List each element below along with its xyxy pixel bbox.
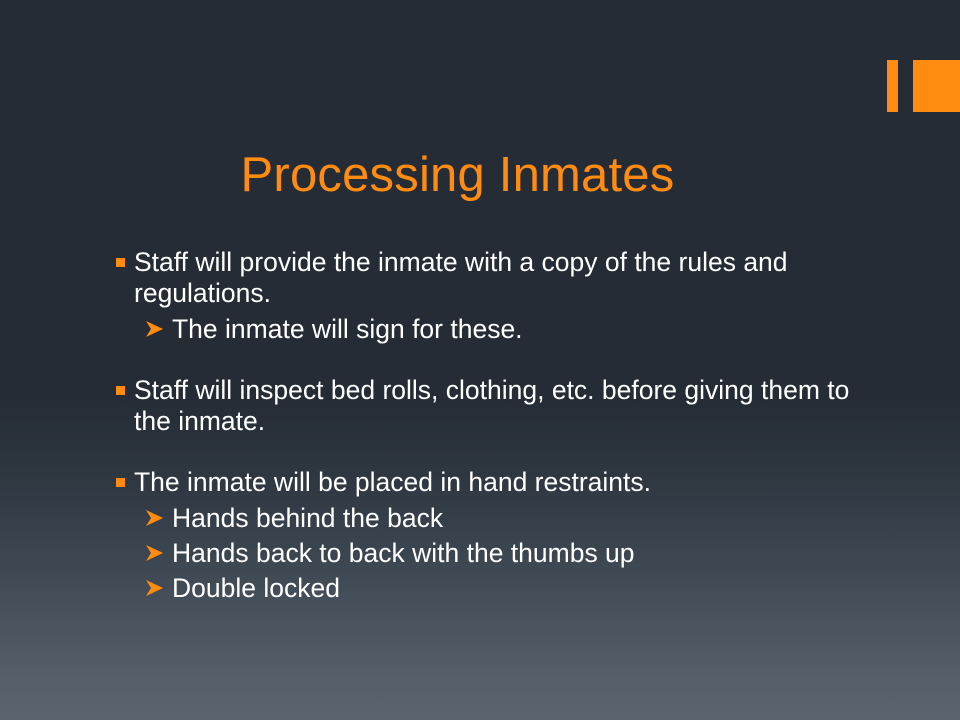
slide-body: Staff will provide the inmate with a cop… <box>112 247 852 604</box>
orange-thin-bar <box>887 60 898 112</box>
slide-title: Processing Inmates <box>60 148 855 203</box>
square-bullet-icon <box>116 258 125 267</box>
bullet-text: Staff will inspect bed rolls, clothing, … <box>134 375 849 436</box>
bullet-text: Staff will provide the inmate with a cop… <box>134 247 788 308</box>
arrow-bullet-icon <box>143 317 167 341</box>
sub-bullet-item: Hands back to back with the thumbs up <box>112 538 852 569</box>
orange-block <box>913 60 960 112</box>
bullet-item: Staff will inspect bed rolls, clothing, … <box>112 375 852 438</box>
sub-bullet-text: The inmate will sign for these. <box>172 314 523 344</box>
square-bullet-icon <box>116 478 125 487</box>
sub-bullet-text: Hands behind the back <box>172 503 443 533</box>
bullet-item: Staff will provide the inmate with a cop… <box>112 247 852 310</box>
arrow-bullet-icon <box>143 541 167 565</box>
square-bullet-icon <box>116 386 125 395</box>
bullet-text: The inmate will be placed in hand restra… <box>134 467 651 497</box>
bullet-item: The inmate will be placed in hand restra… <box>112 467 852 498</box>
sub-bullet-item: Double locked <box>112 573 852 604</box>
presentation-slide: Processing Inmates Staff will provide th… <box>0 0 960 720</box>
sub-bullet-item: The inmate will sign for these. <box>112 314 852 345</box>
sub-bullet-item: Hands behind the back <box>112 503 852 534</box>
arrow-bullet-icon <box>143 506 167 530</box>
arrow-bullet-icon <box>143 576 167 600</box>
sub-bullet-text: Hands back to back with the thumbs up <box>172 538 635 568</box>
sub-bullet-text: Double locked <box>172 573 340 603</box>
slide-corner-decoration <box>887 60 960 112</box>
